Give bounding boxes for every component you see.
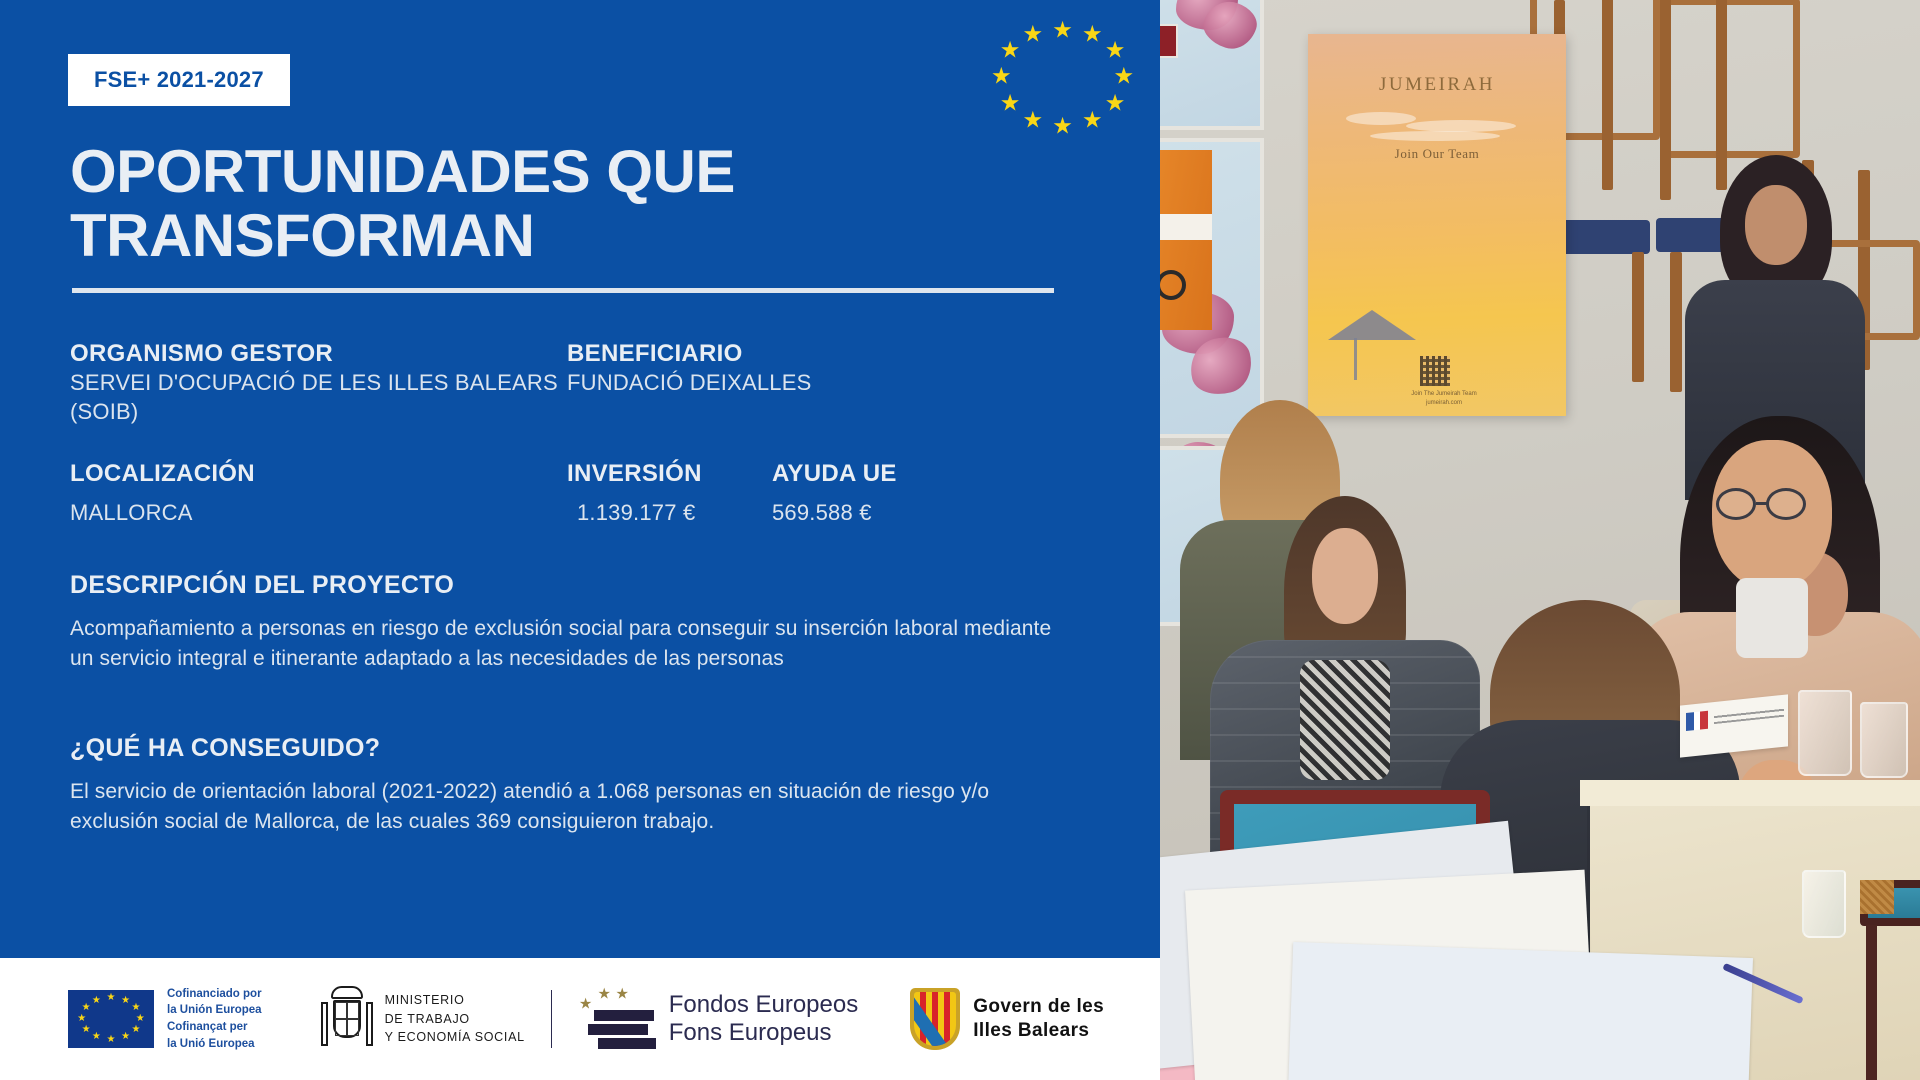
banner-url-text: Join The Jumeirah Team jumeirah.com: [1404, 390, 1484, 408]
eu-star: ★: [1000, 91, 1021, 114]
eu-star: ★: [1105, 91, 1126, 114]
shield-stripes: [914, 992, 956, 1046]
section-body: El servicio de orientación laboral (2021…: [70, 777, 1070, 837]
ministry-line-2: DE TRABAJO: [385, 1010, 525, 1029]
programme-period-badge: FSE+ 2021-2027: [68, 54, 290, 106]
eu-star: ★: [1000, 39, 1021, 62]
exit-sign: [1160, 24, 1178, 58]
chair-leg: [1670, 252, 1682, 392]
eu-flag-icon: ★ ★ ★ ★ ★ ★ ★ ★ ★ ★ ★ ★: [68, 990, 154, 1048]
binder-label-band: [1160, 214, 1212, 240]
orchid-painting-1: [1160, 0, 1264, 130]
european-funds-mark-icon: ★ ★ ★: [578, 988, 656, 1050]
crown-icon: [331, 986, 363, 999]
eu-text-line-3: Cofinançat per: [167, 1019, 262, 1036]
eyeglasses-right-lens: [1766, 488, 1806, 520]
field-value: 569.588 €: [772, 498, 1072, 527]
parasol-pole: [1354, 338, 1357, 380]
page-title: OPORTUNIDADES QUE TRANSFORMAN: [70, 140, 970, 267]
ministry-logo: MINISTERIO DE TRABAJO Y ECONOMÍA SOCIAL: [320, 986, 525, 1052]
chair-leg: [1716, 0, 1727, 190]
field-ayuda-ue: AYUDA UE 569.588 €: [772, 460, 1072, 527]
eu-cofinancing-logo: ★ ★ ★ ★ ★ ★ ★ ★ ★ ★ ★ ★ Cofinanciado por…: [68, 986, 262, 1053]
eu-star: ★: [1113, 65, 1134, 88]
foreground-documents: [1160, 800, 1780, 1080]
eu-star: ★: [1052, 18, 1073, 41]
field-label: ORGANISMO GESTOR: [70, 340, 567, 368]
project-photo: JUMEIRAH Join Our Team Join The Jumeirah…: [1160, 0, 1920, 1080]
eu-star: ★: [991, 65, 1012, 88]
field-label: INVERSIÓN: [567, 460, 772, 488]
govern-line-1: Govern de les: [973, 995, 1104, 1019]
chair-leg: [1602, 0, 1613, 190]
section-descripcion: DESCRIPCIÓN DEL PROYECTO Acompañamiento …: [70, 571, 1080, 674]
stool-leg: [1866, 925, 1877, 1080]
eu-cofinancing-text: Cofinanciado por la Unión Europea Cofina…: [167, 986, 262, 1053]
pillar-icon: [321, 1002, 328, 1046]
title-divider: [72, 288, 1054, 293]
name-card-text-lines: [1714, 707, 1784, 724]
ministry-text: MINISTERIO DE TRABAJO Y ECONOMÍA SOCIAL: [385, 991, 525, 1047]
field-value: MALLORCA: [70, 498, 567, 527]
balearic-shield-icon: [910, 988, 960, 1050]
person-standing-face: [1745, 185, 1807, 265]
section-body: Acompañamiento a personas en riesgo de e…: [70, 614, 1070, 674]
govern-illes-balears-logo: Govern de les Illes Balears: [910, 988, 1104, 1050]
water-glass: [1798, 690, 1852, 776]
section-conseguido: ¿QUÉ HA CONSEGUIDO? El servicio de orien…: [70, 734, 1080, 837]
eyeglasses-bridge: [1756, 502, 1768, 505]
eu-star: ★: [1052, 114, 1073, 137]
european-funds-text: Fondos Europeos Fons Europeus: [669, 991, 858, 1048]
ministry-line-1: MINISTERIO: [385, 991, 525, 1010]
chair-leg: [1660, 0, 1671, 200]
shield-icon: [333, 1000, 361, 1038]
banner-cloud: [1370, 131, 1500, 141]
footer-divider: [551, 990, 552, 1048]
section-title: DESCRIPCIÓN DEL PROYECTO: [70, 571, 1080, 600]
eu-star: ★: [1082, 108, 1103, 131]
european-funds-logo: ★ ★ ★ Fondos Europeos Fons Europeus: [578, 988, 858, 1050]
funds-line-2: Fons Europeus: [669, 1019, 858, 1047]
person-left-face: [1312, 528, 1378, 624]
field-value: FUNDACIÓ DEIXALLES: [567, 368, 987, 397]
banner-cloud: [1346, 112, 1416, 125]
eu-text-line-2: la Unión Europea: [167, 1002, 262, 1019]
govern-line-2: Illes Balears: [973, 1019, 1104, 1043]
banner-subtitle: Join Our Team: [1308, 146, 1566, 162]
document-sheet: [1287, 942, 1753, 1080]
info-panel: FSE+ 2021-2027 ★ ★ ★ ★ ★ ★ ★ ★ ★ ★ ★ ★ O…: [0, 0, 1160, 958]
field-row-2: LOCALIZACIÓN MALLORCA INVERSIÓN 1.139.17…: [70, 460, 1080, 527]
person-left-scarf: [1300, 660, 1390, 780]
section-title: ¿QUÉ HA CONSEGUIDO?: [70, 734, 1080, 763]
chair-leg: [1632, 252, 1644, 382]
ministry-line-3: Y ECONOMÍA SOCIAL: [385, 1028, 525, 1047]
water-glass: [1860, 702, 1908, 778]
field-label: AYUDA UE: [772, 460, 1072, 488]
field-value: SERVEI D'OCUPACIÓ DE LES ILLES BALEARS (…: [70, 368, 567, 426]
field-value: 1.139.177 €: [567, 498, 772, 527]
eu-text-line-4: la Unió Europea: [167, 1036, 262, 1053]
field-beneficiario: BENEFICIARIO FUNDACIÓ DEIXALLES: [567, 340, 987, 426]
field-localizacion: LOCALIZACIÓN MALLORCA: [70, 460, 567, 527]
european-union-emblem: ★ ★ ★ ★ ★ ★ ★ ★ ★ ★ ★ ★: [975, 20, 1150, 140]
fse-project-poster: JUMEIRAH Join Our Team Join The Jumeirah…: [0, 0, 1920, 1080]
eu-text-line-1: Cofinanciado por: [167, 986, 262, 1003]
programme-period-label: FSE+ 2021-2027: [94, 67, 264, 92]
binder-ring-hole: [1160, 270, 1186, 300]
field-inversion: INVERSIÓN 1.139.177 €: [567, 460, 772, 527]
banner-brand-title: JUMEIRAH: [1308, 74, 1566, 96]
jumeirah-rollup-banner: JUMEIRAH Join Our Team Join The Jumeirah…: [1308, 34, 1566, 416]
person-right-turtleneck: [1736, 578, 1808, 658]
shield-diagonal-band: [914, 992, 956, 1046]
chair-back: [1660, 0, 1800, 158]
parasol-icon: [1328, 310, 1416, 340]
orange-binder: [1160, 150, 1212, 330]
qr-code-icon: [1420, 356, 1450, 386]
field-row-1: ORGANISMO GESTOR SERVEI D'OCUPACIÓ DE LE…: [70, 340, 1080, 426]
eu-star: ★: [1082, 23, 1103, 46]
field-label: BENEFICIARIO: [567, 340, 987, 368]
eu-star: ★: [1105, 39, 1126, 62]
field-organismo: ORGANISMO GESTOR SERVEI D'OCUPACIÓ DE LE…: [70, 340, 567, 426]
water-glass: [1802, 870, 1846, 938]
eu-star: ★: [1022, 108, 1043, 131]
eyeglasses-left-lens: [1716, 488, 1756, 520]
name-card-logo-icon: [1686, 711, 1708, 731]
spain-coat-of-arms-icon: [320, 986, 374, 1052]
funds-line-1: Fondos Europeos: [669, 991, 858, 1019]
eu-star: ★: [1022, 23, 1043, 46]
project-fields: ORGANISMO GESTOR SERVEI D'OCUPACIÓ DE LE…: [70, 340, 1080, 836]
govern-text: Govern de les Illes Balears: [973, 995, 1104, 1043]
pillar-icon: [366, 1002, 373, 1046]
table-corner-inlay: [1860, 880, 1894, 914]
field-label: LOCALIZACIÓN: [70, 460, 567, 488]
footer-logo-bar: ★ ★ ★ ★ ★ ★ ★ ★ ★ ★ ★ ★ Cofinanciado por…: [0, 958, 1160, 1080]
